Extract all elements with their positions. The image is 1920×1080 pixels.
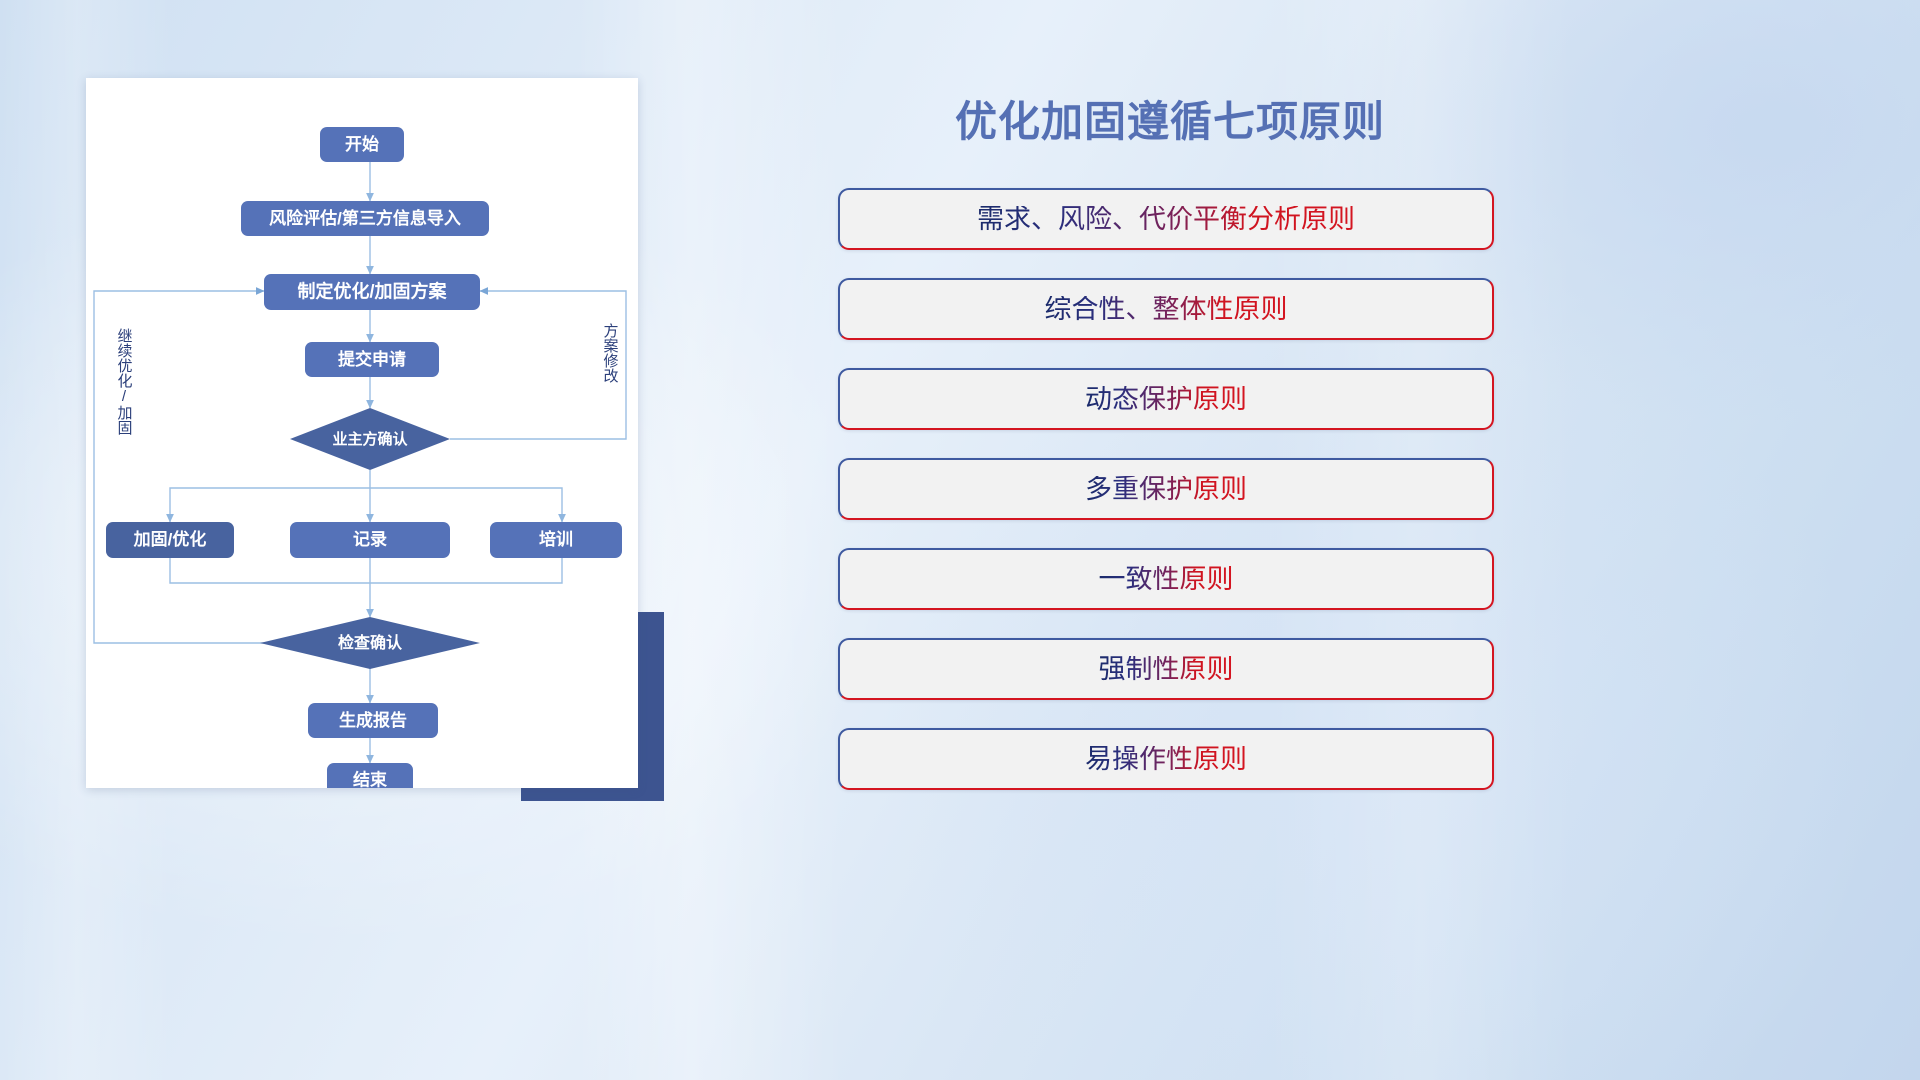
principle-card-5-label: 一致性原则 xyxy=(1099,566,1234,593)
flowchart-diagram: 开始 风险评估/第三方信息导入 制定优化/加固方案 提交申请 业主方确认 加固/ xyxy=(86,78,638,788)
principle-card-2-label: 综合性、整体性原则 xyxy=(1045,296,1288,323)
principle-card-4-label: 多重保护原则 xyxy=(1085,476,1247,503)
edge-label-continue-optimize: 继续优化/加固 xyxy=(116,328,133,435)
edge-label-plan-revision: 方案修改 xyxy=(602,323,619,383)
edge-owner-training xyxy=(370,488,562,522)
edge-owner-reinforce xyxy=(170,488,370,522)
principle-card-3[interactable]: 动态保护原则 xyxy=(838,368,1494,430)
node-start-label: 开始 xyxy=(345,134,379,154)
node-risk-assessment[interactable]: 风险评估/第三方信息导入 xyxy=(241,201,489,236)
edge-loop-revise xyxy=(450,291,626,439)
node-submit-label: 提交申请 xyxy=(338,349,406,369)
node-training-label: 培训 xyxy=(539,529,573,549)
principle-card-1[interactable]: 需求、风险、代价平衡分析原则 xyxy=(838,188,1494,250)
edge-merge-bus xyxy=(170,558,562,583)
principle-card-3-label: 动态保护原则 xyxy=(1085,386,1247,413)
node-reinforce-label: 加固/优化 xyxy=(133,529,207,549)
node-record-label: 记录 xyxy=(353,530,387,549)
node-report-label: 生成报告 xyxy=(339,710,407,730)
node-start[interactable]: 开始 xyxy=(320,127,404,162)
node-training[interactable]: 培训 xyxy=(490,522,622,558)
page-title: 优化加固遵循七项原则 xyxy=(820,88,1520,149)
node-check-confirm[interactable]: 检查确认 xyxy=(260,617,480,669)
principles-pane: 优化加固遵循七项原则 需求、风险、代价平衡分析原则 综合性、整体性原则 动态保护… xyxy=(820,70,1860,1020)
principle-card-6-label: 强制性原则 xyxy=(1099,656,1234,683)
principle-card-6[interactable]: 强制性原则 xyxy=(838,638,1494,700)
node-report[interactable]: 生成报告 xyxy=(308,703,438,738)
node-risk-assessment-label: 风险评估/第三方信息导入 xyxy=(269,208,461,228)
node-check-confirm-label: 检查确认 xyxy=(338,633,403,652)
principle-card-4[interactable]: 多重保护原则 xyxy=(838,458,1494,520)
principle-card-7-label: 易操作性原则 xyxy=(1085,746,1247,773)
node-record[interactable]: 记录 xyxy=(290,522,450,558)
node-end[interactable]: 结束 xyxy=(327,763,413,788)
node-owner-confirm[interactable]: 业主方确认 xyxy=(290,408,450,470)
node-end-label: 结束 xyxy=(353,769,387,788)
node-submit[interactable]: 提交申请 xyxy=(305,342,439,377)
principle-card-2[interactable]: 综合性、整体性原则 xyxy=(838,278,1494,340)
principle-card-7[interactable]: 易操作性原则 xyxy=(838,728,1494,790)
principle-card-5[interactable]: 一致性原则 xyxy=(838,548,1494,610)
slide-canvas: 开始 风险评估/第三方信息导入 制定优化/加固方案 提交申请 业主方确认 加固/ xyxy=(0,0,1920,1080)
flowchart-panel: 开始 风险评估/第三方信息导入 制定优化/加固方案 提交申请 业主方确认 加固/ xyxy=(86,78,638,788)
node-owner-confirm-label: 业主方确认 xyxy=(332,430,408,448)
node-reinforce[interactable]: 加固/优化 xyxy=(106,522,234,558)
node-plan[interactable]: 制定优化/加固方案 xyxy=(264,274,480,310)
principle-card-1-label: 需求、风险、代价平衡分析原则 xyxy=(977,206,1355,233)
principles-list: 需求、风险、代价平衡分析原则 综合性、整体性原则 动态保护原则 多重保护原则 一… xyxy=(838,188,1494,790)
node-plan-label: 制定优化/加固方案 xyxy=(297,280,447,301)
